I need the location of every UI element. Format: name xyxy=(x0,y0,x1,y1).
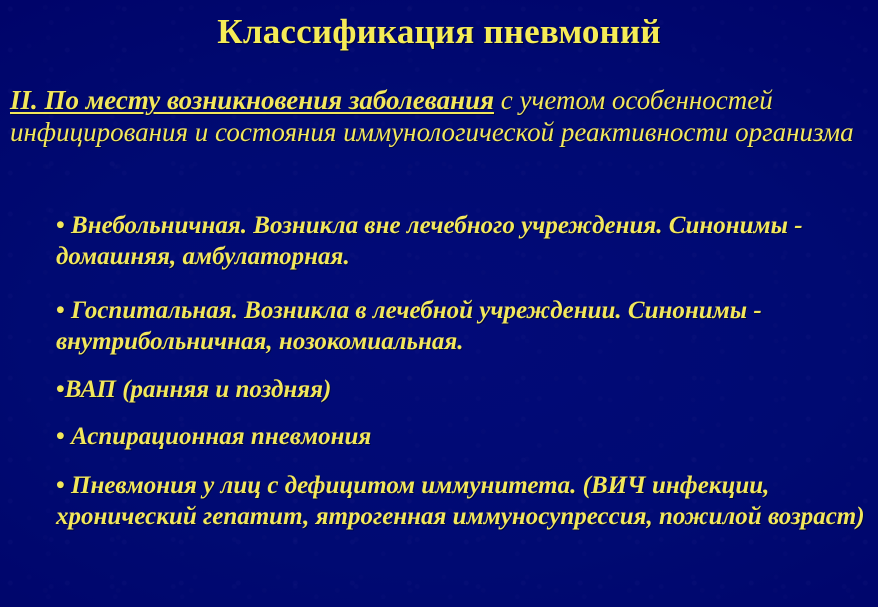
bullet-text: Пневмония у лиц с дефицитом иммунитета. … xyxy=(56,472,865,530)
bullet-text: Внебольничная. Возникла вне лечебного уч… xyxy=(56,212,803,270)
presentation-slide: Классификация пневмоний II. По месту воз… xyxy=(0,0,878,607)
bullet-marker-icon: • xyxy=(56,212,65,239)
slide-title: Классификация пневмоний xyxy=(0,12,878,52)
bullet-marker-icon: • xyxy=(56,423,65,450)
bullet-text: Госпитальная. Возникла в лечебной учрежд… xyxy=(56,297,762,355)
bullet-list: • Внебольничная. Возникла вне лечебного … xyxy=(56,210,874,532)
section-heading-underlined: II. По месту возникновения заболевания xyxy=(10,85,494,115)
bullet-marker-icon: • xyxy=(56,376,65,403)
bullet-text: ВАП (ранняя и поздняя) xyxy=(65,376,332,403)
bullet-item: • Внебольничная. Возникла вне лечебного … xyxy=(56,210,874,272)
bullet-marker-icon: • xyxy=(56,297,65,324)
bullet-item: •ВАП (ранняя и поздняя) xyxy=(56,374,874,405)
bullet-item: • Аспирационная пневмония xyxy=(56,421,874,452)
section-heading: II. По месту возникновения заболевания с… xyxy=(10,84,860,148)
bullet-item: • Пневмония у лиц с дефицитом иммунитета… xyxy=(56,470,874,532)
bullet-text: Аспирационная пневмония xyxy=(71,423,371,450)
bullet-item: • Госпитальная. Возникла в лечебной учре… xyxy=(56,295,874,357)
bullet-marker-icon: • xyxy=(56,472,65,499)
